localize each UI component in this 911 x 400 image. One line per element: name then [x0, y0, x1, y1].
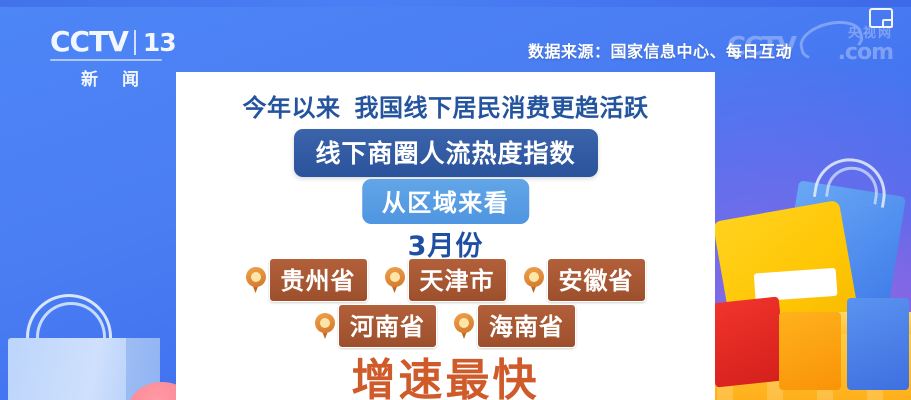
broadcast-frame: CCTV 13 新 闻 CCTV 央视网 .com 数据来源：国家信息中心、每日… — [0, 0, 911, 400]
data-source-text: 数据来源：国家信息中心、每日互动 — [528, 38, 792, 62]
map-pin-icon — [246, 267, 266, 293]
conclusion-text: 增速最快 — [176, 344, 715, 400]
headline-part-2: 我国线下居民消费更趋活跃 — [355, 94, 649, 122]
province-row-1: 贵州省 天津市 安徽省 — [176, 258, 715, 302]
watermark-domain: .com — [838, 40, 893, 65]
map-pin-icon — [385, 267, 405, 293]
province-label: 天津市 — [408, 258, 507, 302]
province-label: 海南省 — [477, 304, 576, 348]
top-strip — [0, 0, 911, 7]
logo-channel-number: 13 — [134, 30, 176, 55]
province-tag: 安徽省 — [524, 258, 646, 302]
logo-underline — [50, 59, 162, 61]
province-tag: 贵州省 — [246, 258, 368, 302]
picture-in-picture-icon[interactable] — [869, 8, 893, 28]
infographic-card: 今年以来我国线下居民消费更趋活跃 线下商圈人流热度指数 从区域来看 3月份 贵州… — [176, 72, 715, 400]
province-label: 贵州省 — [269, 258, 368, 302]
metric-banner: 线下商圈人流热度指数 — [293, 129, 597, 177]
map-pin-icon — [454, 313, 474, 339]
headline-part-1: 今年以来 — [243, 94, 341, 122]
province-tag: 河南省 — [315, 304, 437, 348]
logo-brand-text: CCTV — [50, 28, 128, 56]
province-label: 安徽省 — [547, 258, 646, 302]
cctv13-logo: CCTV 13 新 闻 — [50, 28, 170, 86]
map-pin-icon — [524, 267, 544, 293]
province-label: 河南省 — [338, 304, 437, 348]
map-pin-icon — [315, 313, 335, 339]
card-headline: 今年以来我国线下居民消费更趋活跃 — [176, 88, 715, 123]
province-tag: 海南省 — [454, 304, 576, 348]
shopping-bag-left-icon — [8, 298, 168, 400]
dimension-banner: 从区域来看 — [362, 179, 530, 224]
province-row-2: 河南省 海南省 — [176, 304, 715, 348]
province-tag: 天津市 — [385, 258, 507, 302]
logo-channel-name: 新 闻 — [50, 65, 170, 90]
